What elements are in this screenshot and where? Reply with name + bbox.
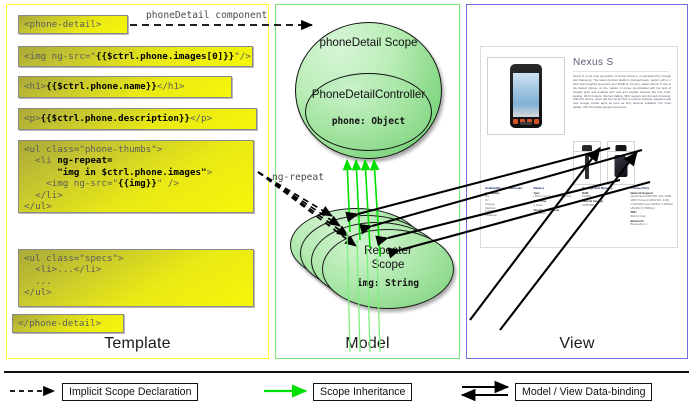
title-divider (573, 71, 669, 72)
phone-screen (513, 73, 539, 117)
spec-heading: Storage and Memory (582, 187, 627, 191)
diagram-canvas: Template Model View <phone-detail> <img … (0, 0, 693, 417)
phone-description: Nexus S is the next generation of Nexus … (573, 75, 671, 110)
spec-column: Battery Type Lithium Ion (Li-Ion) 1500 m… (534, 187, 579, 245)
code-block-p: <p>{{$ctrl.phone.description}}</p> (18, 108, 257, 130)
spec-value: 16384MB (582, 204, 627, 208)
spec-column: Storage and Memory RAM 512MB Internal St… (582, 187, 627, 245)
spec-heading: Battery (534, 187, 579, 191)
panel-label-template: Template (6, 335, 269, 353)
phone-home-button (520, 122, 532, 125)
code-block-img: <img ng-src="{{$ctrl.phone.images[0]}}"/… (18, 46, 253, 67)
panel-label-model: Model (275, 335, 460, 353)
panel-label-view: View (466, 335, 688, 353)
phone-title: Nexus S (573, 57, 614, 68)
legend-model-view-databinding: Model / View Data-binding (515, 383, 652, 401)
code-close-tag: </phone-detail> (12, 314, 124, 333)
phone-specs: Availability and Networks Availability M… (485, 187, 675, 245)
legend-divider (4, 371, 689, 373)
spec-value: Bluetooth 2.1 (631, 223, 676, 227)
legend-implicit-scope-declaration: Implicit Scope Declaration (62, 383, 198, 401)
phone-illustration (510, 64, 542, 128)
code-block-phone-thumbs: <ul class="phone-thumbs"> <li ng-repeat=… (18, 140, 254, 213)
spec-value: Quad-band GSM 850, 900, 1800, 1900 Tri-b… (631, 195, 676, 210)
code-block-specs: <ul class="specs"> <li>...</li> ... </ul… (18, 249, 254, 307)
phone-hero-image (487, 57, 565, 135)
spec-value: Vodafone (485, 214, 530, 218)
repeater-scope-ellipse (322, 229, 454, 309)
code-open-tag: <phone-detail> (18, 15, 128, 34)
view-mockup: Nexus S Nexus S is the next generation o… (480, 46, 678, 248)
phonedetail-controller-ellipse (305, 73, 432, 151)
spec-value: 6 hours (534, 204, 579, 208)
legend-scope-inheritance: Scope Inheritance (313, 383, 412, 401)
spec-column: Connectivity Network Support Quad-band G… (631, 187, 676, 245)
phone-thumbnail[interactable] (607, 151, 635, 185)
spec-value: 428 hours (534, 212, 579, 216)
phone-thumbnail[interactable] (573, 151, 601, 185)
code-block-h1: <h1>{{$ctrl.phone.name}}</h1> (18, 76, 232, 98)
spec-column: Availability and Networks Availability M… (485, 187, 530, 245)
